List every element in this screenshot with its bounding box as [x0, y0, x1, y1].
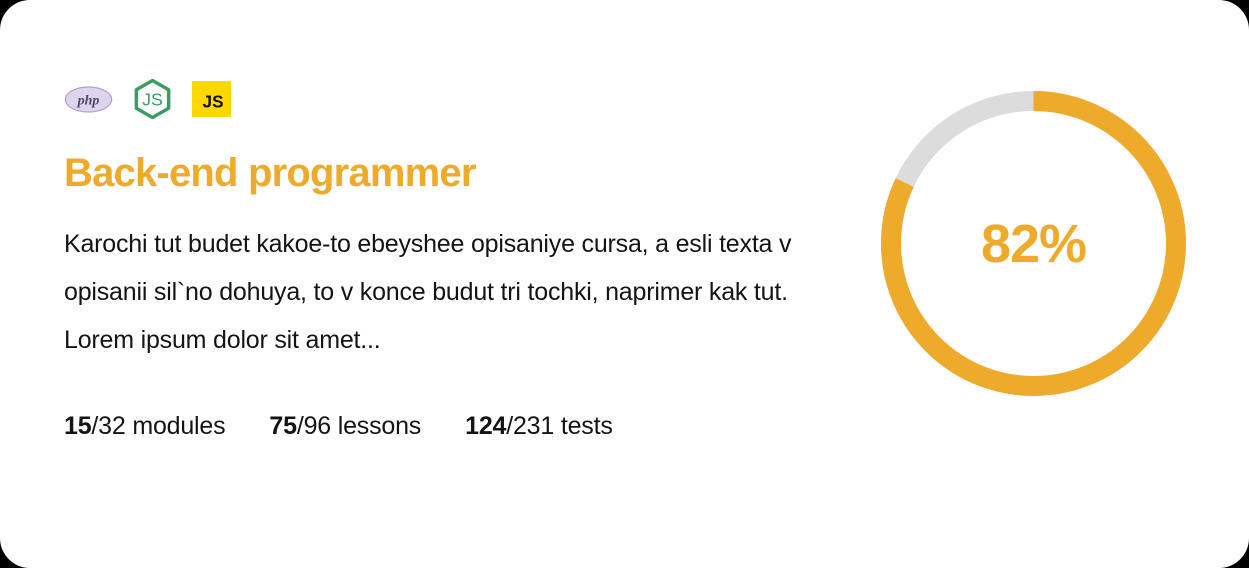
svg-text:JS: JS — [203, 92, 224, 112]
progress-donut-chart: 82% — [881, 91, 1186, 396]
svg-text:JS: JS — [142, 90, 163, 110]
stat-modules-value: 15 — [64, 412, 91, 440]
stat-lessons-label: /96 lessons — [297, 412, 421, 440]
progress-percent-label: 82% — [881, 91, 1186, 396]
technology-badges: php JS JS — [64, 78, 854, 120]
stat-tests: 124/231 tests — [465, 412, 613, 441]
stat-tests-label: /231 tests — [506, 412, 612, 440]
stat-modules: 15/32 modules — [64, 412, 225, 441]
svg-text:php: php — [77, 93, 100, 108]
stat-tests-value: 124 — [465, 412, 506, 440]
stat-modules-label: /32 modules — [91, 412, 225, 440]
stat-lessons-value: 75 — [269, 412, 296, 440]
nodejs-icon: JS — [133, 79, 172, 119]
course-description: Karochi tut budet kakoe-to ebeyshee opis… — [64, 220, 834, 364]
php-icon: php — [64, 86, 113, 113]
javascript-icon: JS — [192, 81, 231, 117]
stat-lessons: 75/96 lessons — [269, 412, 421, 441]
course-info: php JS JS Back-end programmer Karochi tu… — [64, 78, 854, 441]
course-stats: 15/32 modules 75/96 lessons 124/231 test… — [64, 412, 854, 441]
course-progress-card: php JS JS Back-end programmer Karochi tu… — [0, 0, 1249, 568]
page-title: Back-end programmer — [64, 153, 854, 193]
